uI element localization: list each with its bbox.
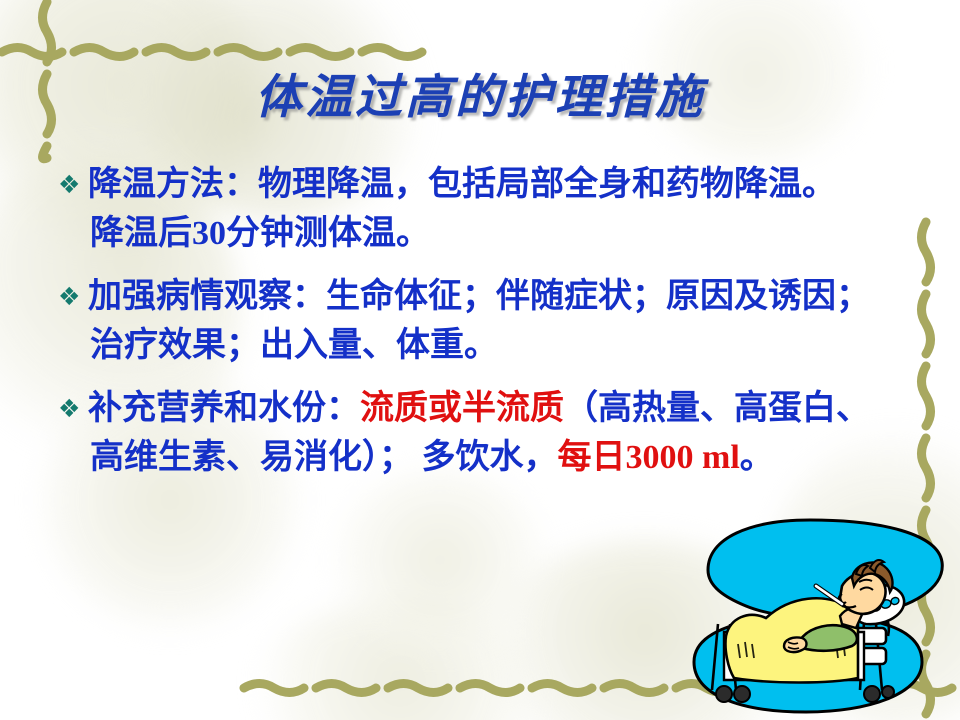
- bullet-1-line-1: 降温方法：物理降温，包括局部全身和药物降温。: [88, 160, 938, 209]
- bullet-1-line-2: 降温后30分钟测体温。: [90, 209, 938, 258]
- leaf-watermark: [330, 470, 550, 650]
- patient-in-bed-illustration: [650, 512, 960, 720]
- bullet-item-2-text: 加强病情观察：生命体征；伴随症状；原因及诱因； 治疗效果；出入量、体重。: [88, 272, 938, 370]
- bullet-2-line-1: 加强病情观察：生命体征；伴随症状；原因及诱因；: [88, 272, 938, 321]
- bullet-2-line-2: 治疗效果；出入量、体重。: [90, 321, 938, 370]
- bullet-3-line-2-post: 。: [740, 439, 774, 476]
- bullet-item-3-text: 补充营养和水份：流质或半流质（高热量、高蛋白、 高维生素、易消化）； 多饮水，每…: [88, 384, 938, 482]
- slide-title: 体温过高的护理措施: [0, 58, 960, 127]
- bullet-item-1: ❖ 降温方法：物理降温，包括局部全身和药物降温。 降温后30分钟测体温。: [58, 160, 938, 258]
- bullet-3-line-2: 高维生素、易消化）； 多饮水，每日3000 ml。: [90, 433, 938, 482]
- bullet-3-line-2-pre: 高维生素、易消化）； 多饮水，: [90, 439, 558, 476]
- bullet-3-line-1-highlight: 流质或半流质: [360, 390, 564, 427]
- bullet-item-3: ❖ 补充营养和水份：流质或半流质（高热量、高蛋白、 高维生素、易消化）； 多饮水…: [58, 384, 938, 482]
- diamond-bullet-icon: ❖: [58, 272, 88, 321]
- bullet-3-line-1-post: （高热量、高蛋白、: [564, 390, 870, 427]
- slide-canvas: 体温过高的护理措施 ❖ 降温方法：物理降温，包括局部全身和药物降温。 降温后30…: [0, 0, 960, 720]
- leaf-watermark: [250, 600, 550, 720]
- diamond-bullet-icon: ❖: [58, 384, 88, 433]
- bullet-list: ❖ 降温方法：物理降温，包括局部全身和药物降温。 降温后30分钟测体温。 ❖ 加…: [58, 160, 938, 496]
- bullet-3-line-1: 补充营养和水份：流质或半流质（高热量、高蛋白、: [88, 384, 938, 433]
- bullet-3-line-1-pre: 补充营养和水份：: [88, 390, 360, 427]
- bullet-item-2: ❖ 加强病情观察：生命体征；伴随症状；原因及诱因； 治疗效果；出入量、体重。: [58, 272, 938, 370]
- diamond-bullet-icon: ❖: [58, 160, 88, 209]
- bullet-item-1-text: 降温方法：物理降温，包括局部全身和药物降温。 降温后30分钟测体温。: [88, 160, 938, 258]
- bullet-3-line-2-highlight: 每日3000 ml: [558, 439, 740, 476]
- patient-hand: [784, 637, 807, 652]
